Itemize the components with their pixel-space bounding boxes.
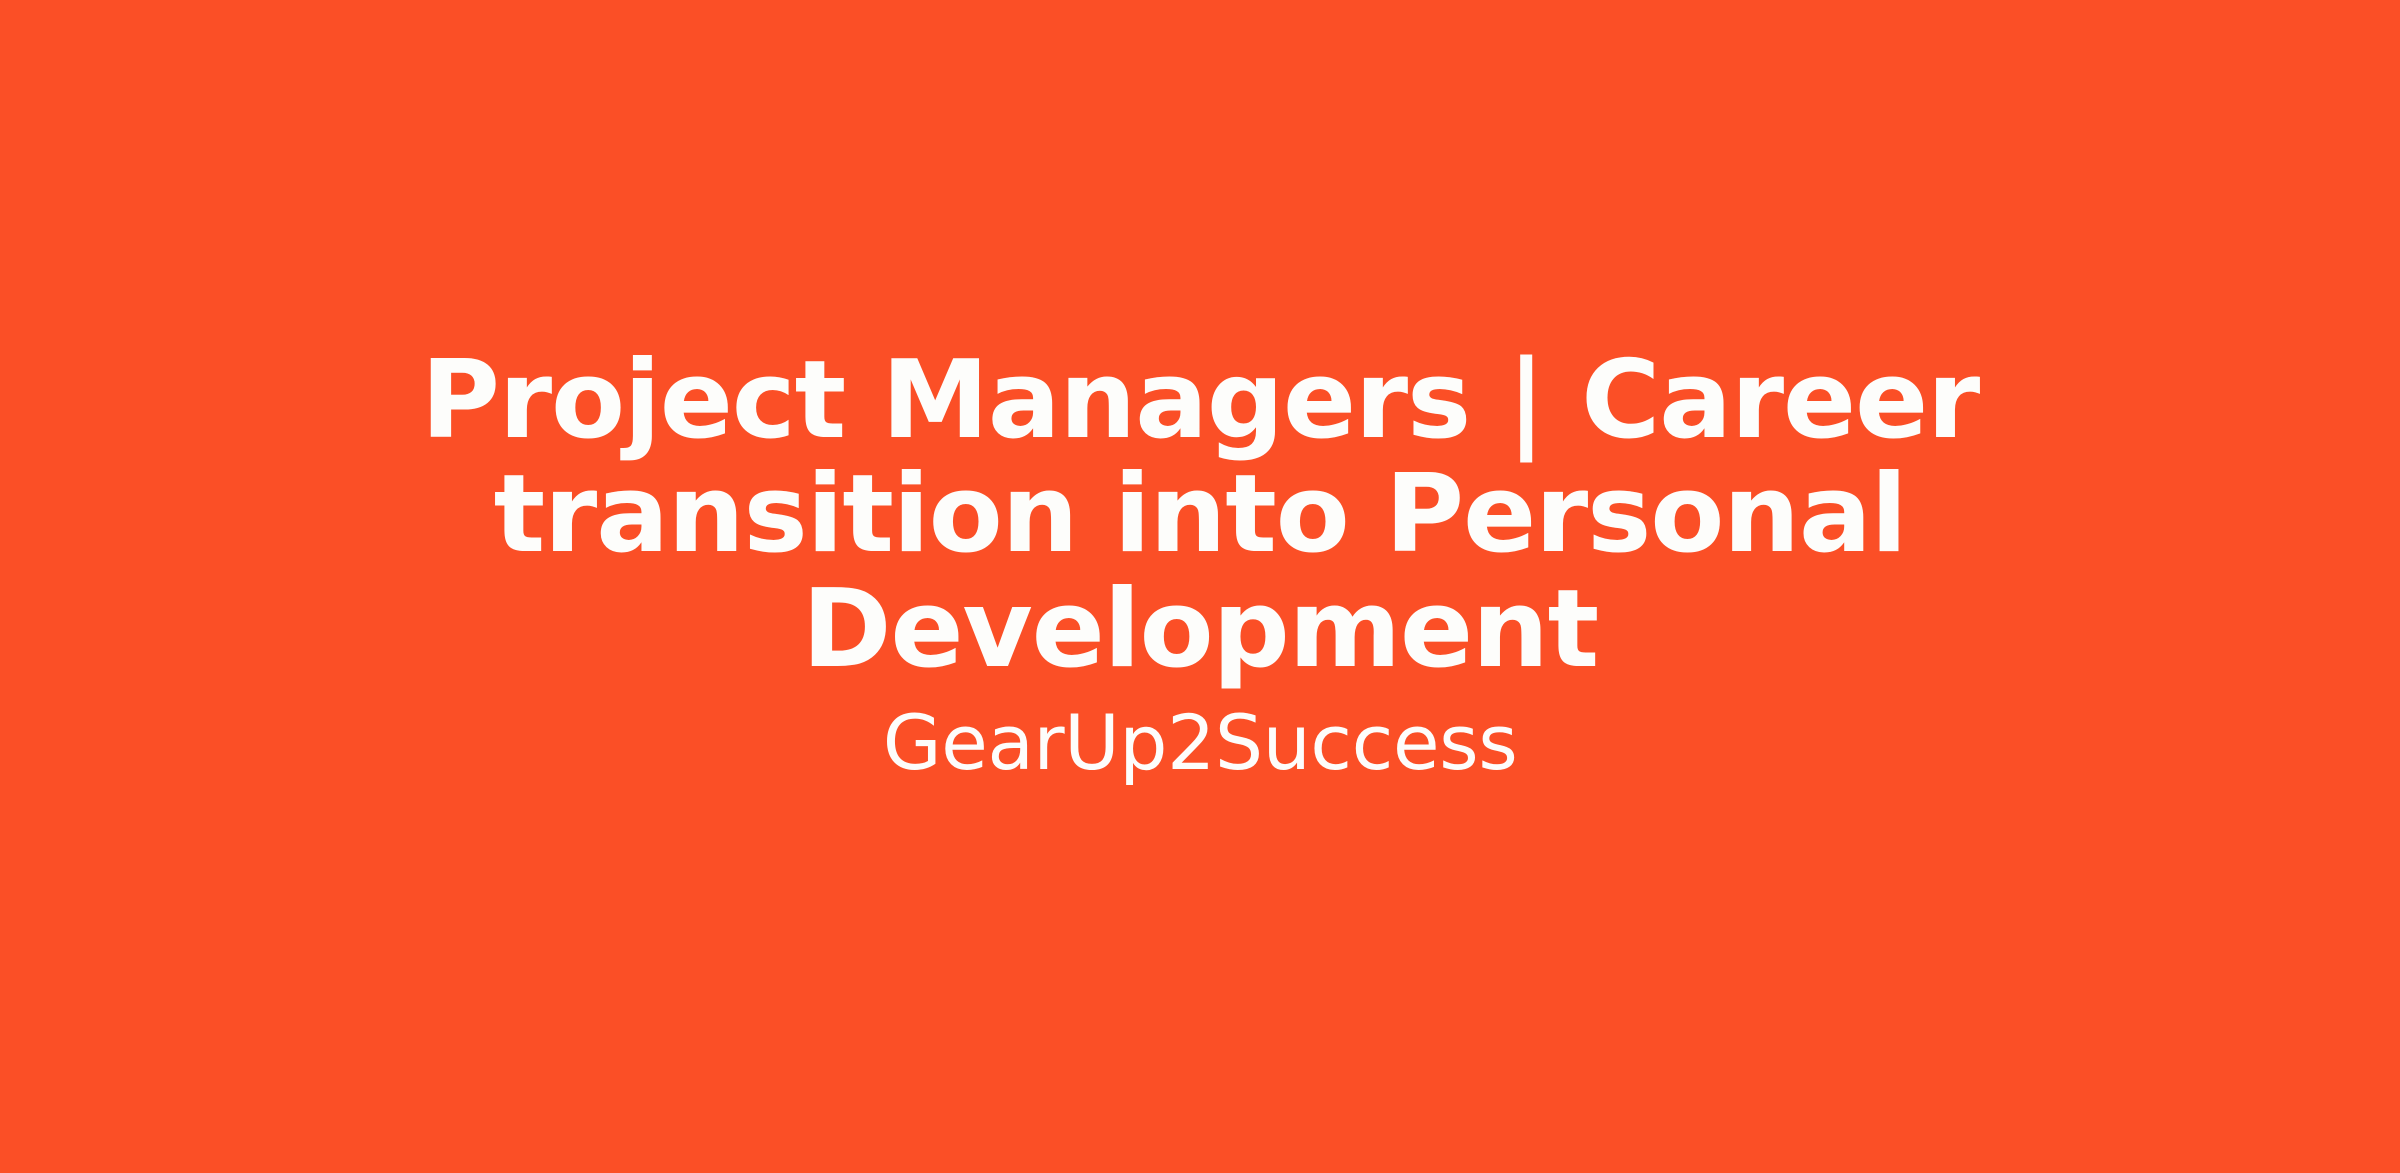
page-title-line-2: transition into Personal: [421, 458, 1979, 572]
title-card: Project Managers | Career transition int…: [0, 0, 2400, 1173]
page-subtitle: GearUp2Success: [883, 701, 1518, 785]
title-block: Project Managers | Career transition int…: [350, 344, 2050, 785]
page-title: Project Managers | Career transition int…: [421, 344, 1979, 687]
page-title-line-1: Project Managers | Career: [421, 344, 1979, 458]
page-title-line-3: Development: [421, 573, 1979, 687]
